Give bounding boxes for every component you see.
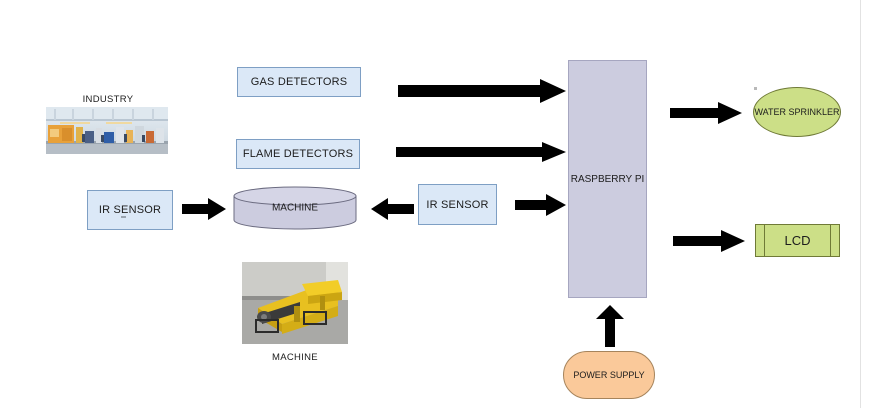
arrow-gas-to-pi [398, 79, 566, 103]
machine-photo [242, 262, 348, 344]
arrow-power-supply-to-pi [596, 305, 624, 347]
diagram-canvas: INDUSTRY [0, 0, 872, 408]
arrow-flame-to-pi [396, 142, 566, 162]
flame-detectors-box[interactable]: FLAME DETECTORS [236, 139, 360, 169]
raspberry-pi-box[interactable]: RASPBERRY PI [568, 60, 647, 298]
gas-detectors-box[interactable]: GAS DETECTORS [237, 67, 361, 97]
lcd-right-bar [830, 225, 831, 256]
arrow-ir-right-to-machine [371, 198, 414, 220]
power-supply-label: POWER SUPPLY [573, 370, 644, 380]
raspberry-pi-label: RASPBERRY PI [571, 174, 645, 185]
ir-sensor-right-label: IR SENSOR [426, 199, 488, 211]
page-margin-line [860, 0, 861, 408]
industry-photo [46, 107, 168, 154]
arrow-pi-to-lcd [673, 230, 745, 252]
lcd-left-bar [764, 225, 765, 256]
machine-photo-caption: MACHINE [242, 352, 348, 363]
ir-sensor-right-box[interactable]: IR SENSOR [418, 184, 497, 225]
gas-detectors-label: GAS DETECTORS [251, 76, 348, 88]
ir-sensor-left-box[interactable]: IR SENSOR [87, 190, 173, 230]
flame-detectors-label: FLAME DETECTORS [243, 148, 353, 160]
arrow-pi-to-water-sprinkler [670, 102, 742, 124]
machine-cylinder[interactable]: MACHINE [233, 186, 357, 230]
water-sprinkler-speck [754, 87, 757, 90]
arrow-ir-left-to-machine [182, 198, 226, 220]
industry-photo-caption: INDUSTRY [48, 94, 168, 105]
lcd-box[interactable]: LCD [755, 224, 840, 257]
ir-sensor-left-artifact [121, 216, 126, 218]
water-sprinkler-ellipse[interactable]: WATER SPRINKLER [753, 87, 841, 137]
water-sprinkler-label: WATER SPRINKLER [754, 107, 839, 117]
lcd-label: LCD [784, 233, 810, 248]
power-supply-box[interactable]: POWER SUPPLY [563, 351, 655, 399]
machine-cylinder-label: MACHINE [233, 203, 357, 214]
arrow-ir-right-to-pi [515, 194, 566, 216]
ir-sensor-left-label: IR SENSOR [99, 204, 161, 216]
